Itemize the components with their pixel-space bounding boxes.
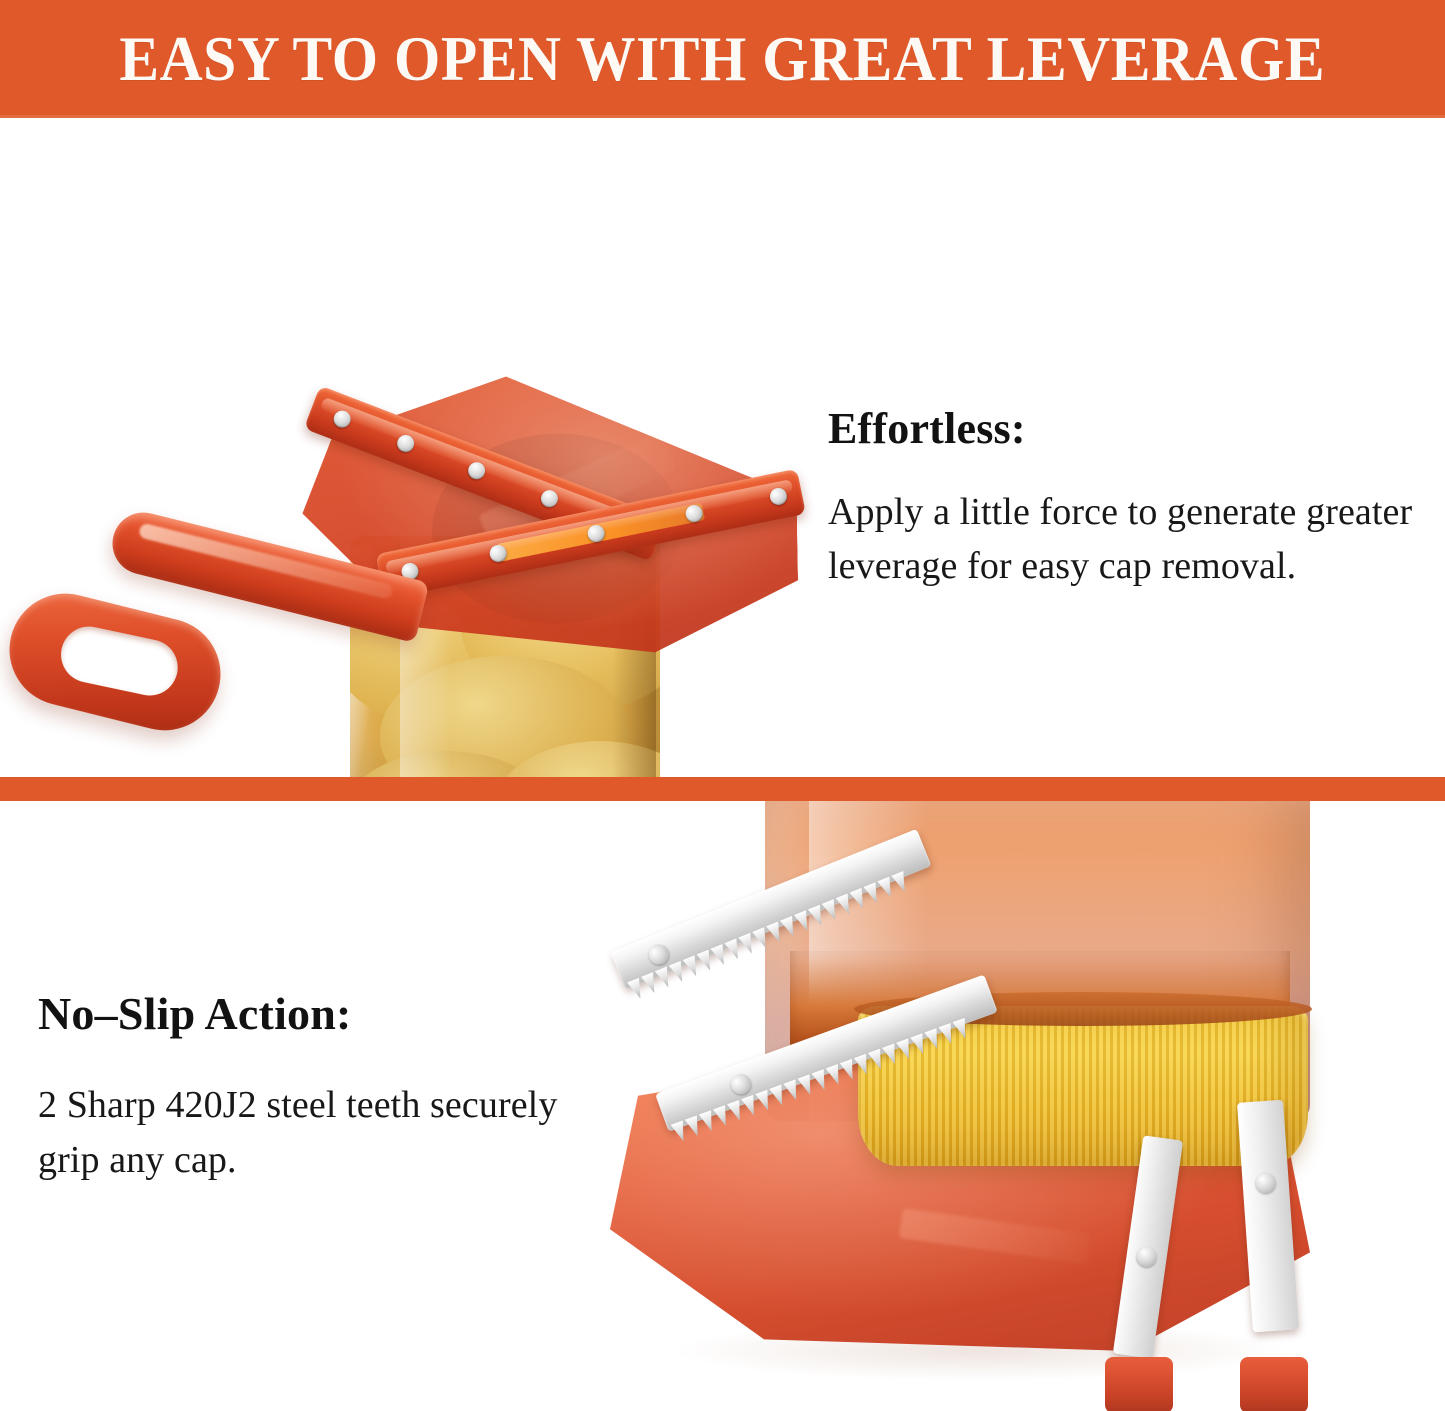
tooth [713,1105,732,1128]
tooth [683,955,703,978]
handle-loop [0,582,232,742]
tooth [868,1049,887,1072]
header-title: EASY TO OPEN WITH GREAT LEVERAGE [120,27,1326,91]
tooth [910,1033,929,1056]
feature-heading-effortless: Effortless: [828,406,1428,452]
feature-panel-effortless: Effortless: Apply a little force to gene… [0,118,1445,777]
base-foot-left [1105,1357,1173,1411]
tooth [755,1090,774,1113]
product-photo-no-slip [600,801,1445,1411]
infographic-page: EASY TO OPEN WITH GREAT LEVERAGE [0,0,1445,1411]
tooth [769,1084,788,1107]
base-foot-right [1240,1357,1308,1411]
tooth [738,933,758,956]
tooth [724,938,744,961]
tooth [641,972,661,995]
tooth [854,1054,873,1077]
feature-body-no-slip: 2 Sharp 420J2 steel teeth securely grip … [38,1078,598,1188]
tooth [741,1095,760,1118]
rivet [1255,1172,1276,1193]
tooth [952,1018,971,1041]
tooth [685,1115,704,1138]
tooth [797,1074,816,1097]
tooth [938,1023,957,1046]
tooth [840,1059,859,1082]
feature-heading-no-slip: No–Slip Action: [38,990,598,1038]
feature-panel-no-slip: No–Slip Action: 2 Sharp 420J2 steel teet… [0,801,1445,1411]
tooth [826,1064,845,1087]
feature-body-effortless: Apply a little force to generate greater… [828,486,1428,594]
tooth [783,1079,802,1102]
tooth [896,1038,915,1061]
rivet [646,941,672,967]
rivet [728,1071,754,1097]
header-banner: EASY TO OPEN WITH GREAT LEVERAGE [0,0,1445,118]
handle-hang-hole [56,621,183,700]
tooth [696,950,716,973]
opener-handle [8,554,408,682]
tooth [669,961,689,984]
tooth [727,1100,746,1123]
tooth [924,1028,943,1051]
feature-text-no-slip: No–Slip Action: 2 Sharp 420J2 steel teet… [38,990,598,1188]
tooth [882,1043,901,1066]
section-divider [0,777,1445,801]
tooth [655,966,675,989]
tooth [710,944,730,967]
tooth [699,1110,718,1133]
tooth [627,978,647,1001]
rivet [1135,1246,1158,1269]
tooth [812,1069,831,1092]
feature-text-effortless: Effortless: Apply a little force to gene… [828,406,1428,594]
